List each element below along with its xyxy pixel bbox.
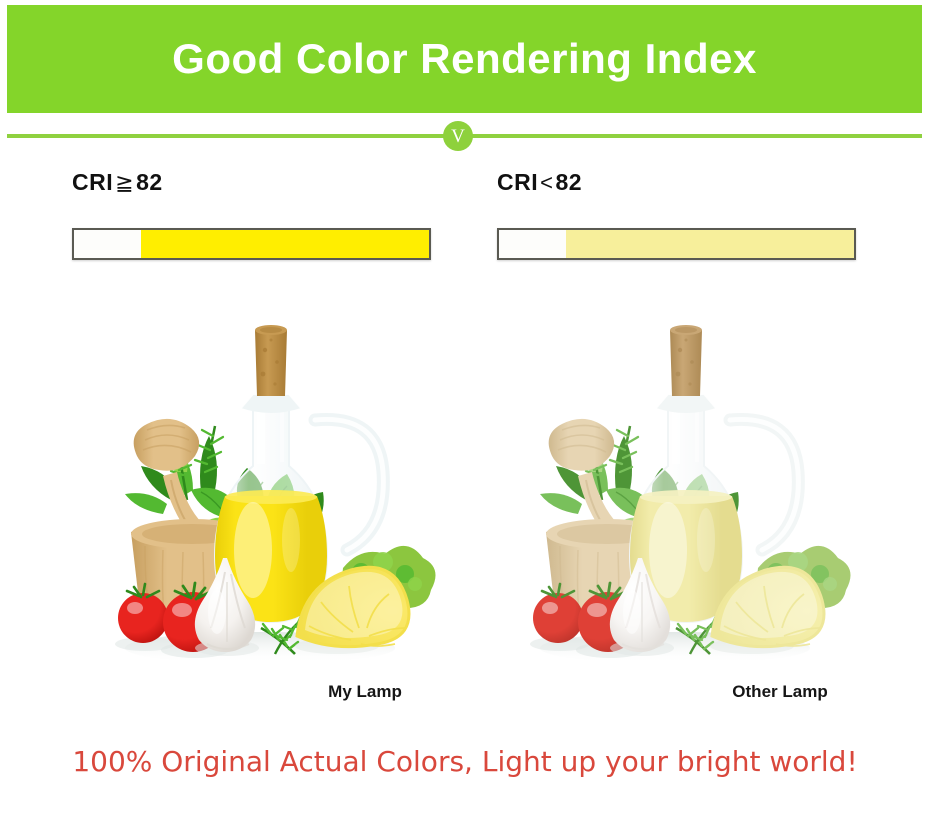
cri-operator-right: < <box>538 170 555 195</box>
caption-other-lamp: Other Lamp <box>600 682 930 702</box>
cri-prefix-right: CRI <box>497 169 538 195</box>
color-bar-left-white-segment <box>74 230 141 258</box>
v-badge-label: V <box>451 127 465 146</box>
tagline-text: 100% Original Actual Colors, Light up yo… <box>0 745 930 778</box>
color-bar-left-fill-segment <box>141 230 429 258</box>
caption-my-lamp: My Lamp <box>185 682 545 702</box>
color-bar-left <box>72 228 431 260</box>
header-banner: Good Color Rendering Index <box>7 5 922 113</box>
cri-operator-left: ≧ <box>113 170 136 195</box>
page-title: Good Color Rendering Index <box>172 38 757 80</box>
cri-value-left: 82 <box>136 169 163 195</box>
cri-label-left: CRI≧82 <box>72 169 163 196</box>
cri-value-right: 82 <box>555 169 582 195</box>
cri-label-right: CRI<82 <box>497 169 582 196</box>
chevron-down-badge-icon: V <box>443 121 473 151</box>
cri-prefix-left: CRI <box>72 169 113 195</box>
color-bar-right <box>497 228 856 260</box>
color-bar-right-fill-segment <box>566 230 854 258</box>
product-photo-my-lamp <box>75 300 455 680</box>
infographic-root: Good Color Rendering Index V CRI≧82 CRI<… <box>0 0 930 830</box>
color-bar-right-white-segment <box>499 230 566 258</box>
product-photo-other-lamp <box>490 300 870 680</box>
